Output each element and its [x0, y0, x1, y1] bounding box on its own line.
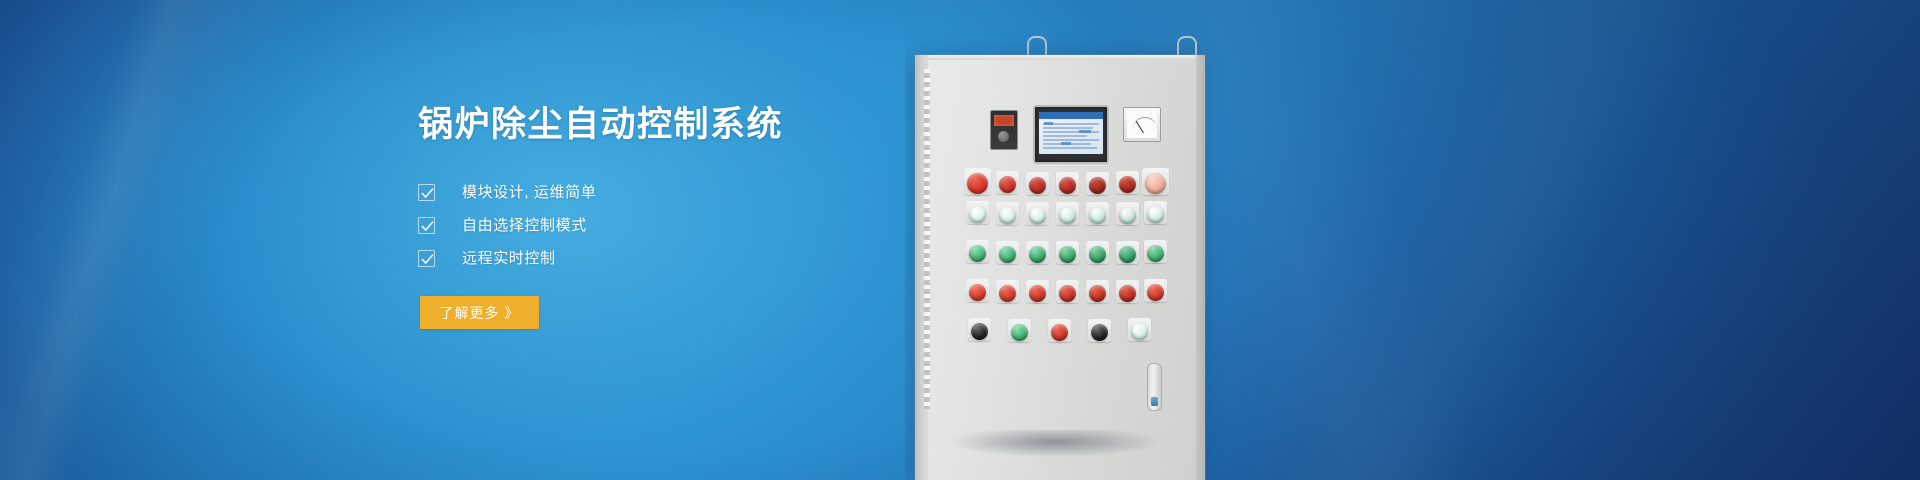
indicator-lamp-white[interactable]	[1119, 207, 1136, 224]
hmi-cell	[1079, 130, 1091, 133]
indicator-lamp-green[interactable]	[1029, 246, 1046, 263]
cabinet-door-handle[interactable]	[1147, 363, 1162, 411]
hmi-cell	[1044, 122, 1053, 125]
hmi-touch-screen	[1033, 105, 1109, 164]
page-title: 锅炉除尘自动控制系统	[418, 104, 958, 146]
feature-item-label: 远程实时控制	[462, 248, 556, 269]
push-button-red[interactable]	[1089, 177, 1106, 194]
feature-item-3: 远程实时控制	[418, 248, 958, 269]
indicator-lamp-red[interactable]	[1119, 285, 1136, 302]
cabinet-top-edge	[915, 55, 1205, 60]
push-button-red[interactable]	[1119, 176, 1136, 193]
indicator-lamp-red[interactable]	[969, 284, 986, 301]
indicator-lamp-white[interactable]	[1131, 323, 1148, 340]
hmi-text-line	[1043, 135, 1087, 137]
indicator-lamp-white[interactable]	[999, 207, 1016, 224]
meter-face	[1127, 111, 1157, 138]
learn-more-button[interactable]: 了解更多 》	[420, 296, 539, 329]
indicator-lamp-white[interactable]	[1147, 206, 1164, 223]
control-cabinet	[915, 55, 1205, 480]
indicator-lamp-white[interactable]	[969, 206, 986, 223]
checkbox-checked-icon	[418, 184, 435, 201]
indicator-lamp-green[interactable]	[1147, 245, 1164, 262]
feature-item-1: 模块设计, 运维简单	[418, 182, 958, 203]
controller-display	[994, 115, 1014, 126]
indicator-lamp-red[interactable]	[1059, 285, 1076, 302]
hmi-cell	[1061, 142, 1071, 145]
cabinet-lock-icon	[1151, 397, 1158, 406]
hero-banner: 锅炉除尘自动控制系统 模块设计, 运维简单 自由选择控制模式	[0, 0, 1920, 480]
indicator-lamp-red[interactable]	[1147, 284, 1164, 301]
push-button-red[interactable]	[999, 176, 1016, 193]
feature-item-label: 自由选择控制模式	[462, 215, 587, 236]
push-button-illuminated[interactable]	[1145, 173, 1166, 194]
indicator-lamp-red[interactable]	[999, 285, 1016, 302]
hmi-text-line	[1043, 147, 1097, 149]
checkbox-checked-icon	[418, 250, 435, 267]
indicator-lamp-green[interactable]	[969, 245, 986, 262]
indicator-lamp-green[interactable]	[1089, 246, 1106, 263]
temperature-controller	[990, 110, 1018, 150]
push-button-red[interactable]	[1029, 177, 1046, 194]
cabinet-right-edge	[1196, 55, 1205, 480]
hmi-text-line	[1043, 139, 1099, 141]
hmi-text-line	[1043, 127, 1093, 129]
indicator-lamp-red[interactable]	[1051, 324, 1068, 341]
cabinet-shadow	[905, 430, 1215, 480]
push-button-red[interactable]	[1059, 177, 1076, 194]
controller-knob-icon	[998, 131, 1009, 142]
product-image	[905, 0, 1920, 480]
indicator-lamp-red[interactable]	[1029, 285, 1046, 302]
indicator-lamp-green[interactable]	[1011, 324, 1028, 341]
indicator-lamp-green[interactable]	[1119, 246, 1136, 263]
push-button-red[interactable]	[967, 173, 988, 194]
cabinet-hinge-strip	[924, 69, 930, 409]
indicator-lamp-green[interactable]	[1059, 246, 1076, 263]
selector-switch-black[interactable]	[1091, 324, 1108, 341]
feature-item-2: 自由选择控制模式	[418, 215, 958, 236]
indicator-lamp-red[interactable]	[1089, 285, 1106, 302]
hmi-title-bar	[1039, 112, 1103, 119]
selector-switch-black[interactable]	[971, 323, 988, 340]
feature-item-label: 模块设计, 运维简单	[462, 182, 596, 203]
analog-meter	[1123, 107, 1161, 142]
indicator-lamp-white[interactable]	[1029, 207, 1046, 224]
indicator-lamp-grid	[967, 173, 1167, 363]
hmi-screen-surface	[1039, 112, 1103, 154]
indicator-lamp-white[interactable]	[1059, 207, 1076, 224]
feature-list: 模块设计, 运维简单 自由选择控制模式 远程实时控制	[418, 182, 958, 269]
checkbox-checked-icon	[418, 217, 435, 234]
indicator-lamp-white[interactable]	[1089, 207, 1106, 224]
indicator-lamp-green[interactable]	[999, 246, 1016, 263]
hero-copy: 锅炉除尘自动控制系统 模块设计, 运维简单 自由选择控制模式	[418, 104, 958, 281]
